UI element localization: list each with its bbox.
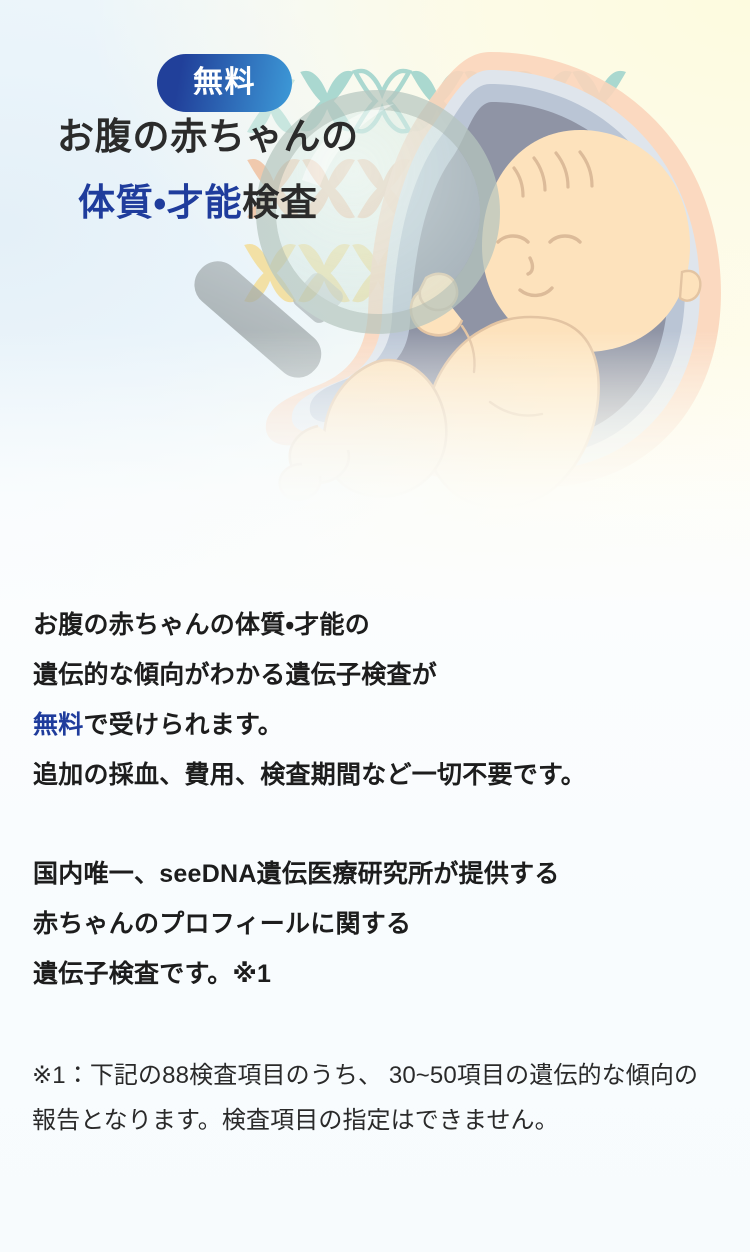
hero-title-suffix-text: 検査: [242, 182, 317, 223]
paragraph-1-line-2: 遺伝的な傾向がわかる遺伝子検査が: [33, 650, 733, 700]
free-highlight-text: 無料: [33, 711, 84, 739]
body-copy: お腹の赤ちゃんの体質・才能の 遺伝的な傾向がわかる遺伝子検査が 無料で受けられま…: [33, 600, 733, 999]
hero-title: お腹の赤ちゃんの 体質・才能検査: [0, 118, 750, 221]
hero-bottom-fade: [0, 330, 750, 630]
paragraph-2: 国内唯一、seeDNA遺伝医療研究所が提供する 赤ちゃんのプロフィールに関する …: [33, 849, 733, 999]
free-badge: 無料: [157, 54, 292, 112]
paragraph-1-line-3-rest: で受けられます。: [84, 711, 284, 739]
footnote-text: ※1：下記の88検査項目のうち、 30~50項目の遺伝的な傾向の報告となります。…: [32, 1053, 722, 1143]
paragraph-1-line-1: お腹の赤ちゃんの体質・才能の: [33, 600, 733, 650]
paragraph-2-line-2: 赤ちゃんのプロフィールに関する: [33, 899, 733, 949]
hero-title-line-1: お腹の赤ちゃんの: [57, 118, 750, 155]
hero-title-line-2: 体質・才能検査: [78, 184, 750, 221]
free-badge-label: 無料: [193, 68, 256, 98]
paragraph-2-line-1: 国内唯一、seeDNA遺伝医療研究所が提供する: [33, 849, 733, 899]
promo-page: 無料 お腹の赤ちゃんの 体質・才能検査 お腹の赤ちゃんの体質・才能の 遺伝的な傾…: [0, 0, 750, 1252]
hero-title-line-1-text: お腹の赤ちゃんの: [57, 116, 359, 157]
paragraph-spacer: [33, 800, 733, 849]
paragraph-1-line-3: 無料で受けられます。: [33, 700, 733, 750]
paragraph-2-line-3: 遺伝子検査です。※1: [33, 949, 733, 999]
paragraph-1: お腹の赤ちゃんの体質・才能の 遺伝的な傾向がわかる遺伝子検査が 無料で受けられま…: [33, 600, 733, 800]
hero-title-accent-text: 体質・才能: [78, 182, 242, 223]
paragraph-1-line-4: 追加の採血、費用、検査期間など一切不要です。: [33, 750, 733, 800]
